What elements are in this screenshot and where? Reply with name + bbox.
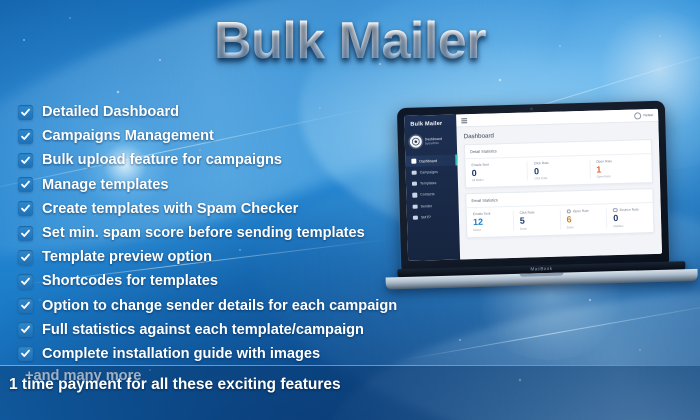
stat-row: Emails Sent 12 Direct Click Rate 5 Done …: [467, 203, 654, 238]
stat-click-rate: Click Rate 0 Click Rate: [528, 159, 591, 181]
stat-value: 5: [520, 214, 560, 225]
stat-open-rate: Open Rate 6 Done: [560, 208, 607, 230]
stat-emails-sent: Emails Sent 0 All Mailer: [465, 161, 528, 183]
app-main: Netset Dashboard Detail Statistics Email…: [456, 109, 662, 260]
page-title: Bulk Mailer: [0, 11, 700, 71]
list-item: Campaigns Management: [18, 124, 418, 148]
campaigns-icon: [412, 170, 417, 175]
laptop-screen: Bulk Mailer Dashboard Sysadmin: [404, 109, 662, 261]
stat-row: Emails Sent 0 All Mailer Click Rate 0 Cl…: [465, 154, 652, 188]
stat-click-rate: Click Rate 5 Done: [514, 209, 561, 231]
feature-label: Shortcodes for templates: [42, 273, 218, 289]
list-item: Full statistics against each template/ca…: [18, 318, 418, 342]
stat-label-text: Bounce Rate: [620, 208, 639, 213]
hamburger-icon[interactable]: [461, 118, 467, 123]
check-icon: [18, 274, 33, 289]
profile-role: Sysadmin: [425, 141, 442, 145]
check-icon: [18, 250, 33, 265]
sidebar-profile[interactable]: Dashboard Sysadmin: [405, 131, 458, 153]
list-item: Bulk upload feature for campaigns: [18, 148, 418, 172]
user-circle-icon: [410, 135, 422, 147]
sender-icon: [413, 204, 418, 209]
bullet-icon: [613, 208, 618, 213]
list-item: Set min. spam score before sending templ…: [18, 221, 418, 245]
stat-label-text: Open Rate: [573, 209, 589, 213]
footer-text: 1 time payment for all these exciting fe…: [9, 376, 341, 394]
sidebar-item-label: Campaigns: [420, 170, 438, 175]
feature-label: Campaigns Management: [42, 128, 214, 144]
sidebar-item-smtp[interactable]: SMTP: [407, 211, 459, 224]
stat-value: 0: [613, 212, 653, 223]
dashboard-icon: [411, 159, 416, 164]
sidebar-item-label: Contacts: [420, 193, 434, 197]
stat-value: 6: [566, 214, 606, 225]
app-sidebar: Bulk Mailer Dashboard Sysadmin: [404, 114, 460, 260]
list-item: Template preview option: [18, 245, 418, 269]
check-icon: [18, 298, 33, 313]
detail-statistics-card: Detail Statistics Emails Sent 0 All Mail…: [464, 139, 653, 189]
stat-sublabel: Click Rate: [534, 175, 589, 181]
check-icon: [18, 177, 33, 192]
feature-label: Create templates with Spam Checker: [42, 201, 298, 217]
list-item: Complete installation guide with images: [18, 342, 418, 366]
user-icon: [634, 112, 641, 119]
contacts-icon: [412, 193, 417, 198]
sidebar-item-label: Templates: [420, 181, 436, 185]
bullet-icon: [566, 209, 571, 214]
feature-label: Template preview option: [42, 249, 212, 265]
feature-label: Set min. spam score before sending templ…: [42, 225, 365, 241]
stat-sublabel: Done: [567, 225, 607, 230]
check-icon: [18, 346, 33, 361]
feature-label: Manage templates: [42, 177, 169, 193]
webcam-icon: [529, 107, 532, 110]
smtp-icon: [413, 215, 418, 220]
stat-open-rate: Open Rate 1 Open Rate: [590, 158, 652, 180]
hairline-decoration: [402, 300, 700, 360]
stat-sublabel: Direct: [473, 227, 513, 232]
laptop-lid: Bulk Mailer Dashboard Sysadmin: [397, 101, 669, 271]
list-item: Option to change sender details for each…: [18, 294, 418, 318]
list-item: Manage templates: [18, 173, 418, 197]
list-item: Detailed Dashboard: [18, 100, 418, 124]
list-item: Create templates with Spam Checker: [18, 197, 418, 221]
feature-label: Bulk upload feature for campaigns: [42, 152, 282, 168]
check-icon: [18, 322, 33, 337]
feature-label: Complete installation guide with images: [42, 346, 320, 362]
feature-label: Option to change sender details for each…: [42, 298, 397, 314]
stat-emails-sent: Emails Sent 12 Direct: [467, 211, 514, 233]
check-icon: [18, 153, 33, 168]
stat-value: 12: [473, 216, 513, 227]
sidebar-item-label: SMTP: [421, 215, 431, 219]
list-item: Shortcodes for templates: [18, 269, 418, 293]
laptop-mockup: Bulk Mailer Dashboard Sysadmin: [393, 100, 698, 294]
check-icon: [18, 226, 33, 241]
templates-icon: [412, 182, 417, 187]
check-icon: [18, 201, 33, 216]
sidebar-item-label: Sender: [421, 204, 433, 208]
stat-bounce-rate: Bounce Rate 0 Mailbox: [607, 207, 653, 229]
feature-label: Full statistics against each template/ca…: [42, 322, 364, 338]
topbar-user-name: Netset: [643, 113, 653, 117]
check-icon: [18, 105, 33, 120]
laptop-notch: [520, 273, 564, 277]
feature-list: Detailed Dashboard Campaigns Management …: [18, 100, 418, 384]
promo-banner: Bulk Mailer Detailed Dashboard Campaigns…: [0, 0, 700, 420]
profile-text: Dashboard Sysadmin: [425, 137, 442, 146]
check-icon: [18, 129, 33, 144]
feature-label: Detailed Dashboard: [42, 104, 179, 120]
sidebar-nav: Dashboard Campaigns Templates Conta: [405, 154, 459, 223]
sidebar-item-label: Dashboard: [419, 159, 437, 163]
stat-sublabel: Done: [520, 225, 560, 230]
stat-sublabel: Mailbox: [613, 223, 653, 228]
stat-sublabel: Open Rate: [596, 173, 651, 179]
topbar-user[interactable]: Netset: [634, 111, 653, 119]
app-brand: Bulk Mailer: [404, 114, 456, 132]
stat-sublabel: All Mailer: [472, 177, 527, 183]
email-statistics-card: Email Statistics Emails Sent 12 Direct C…: [465, 188, 654, 238]
